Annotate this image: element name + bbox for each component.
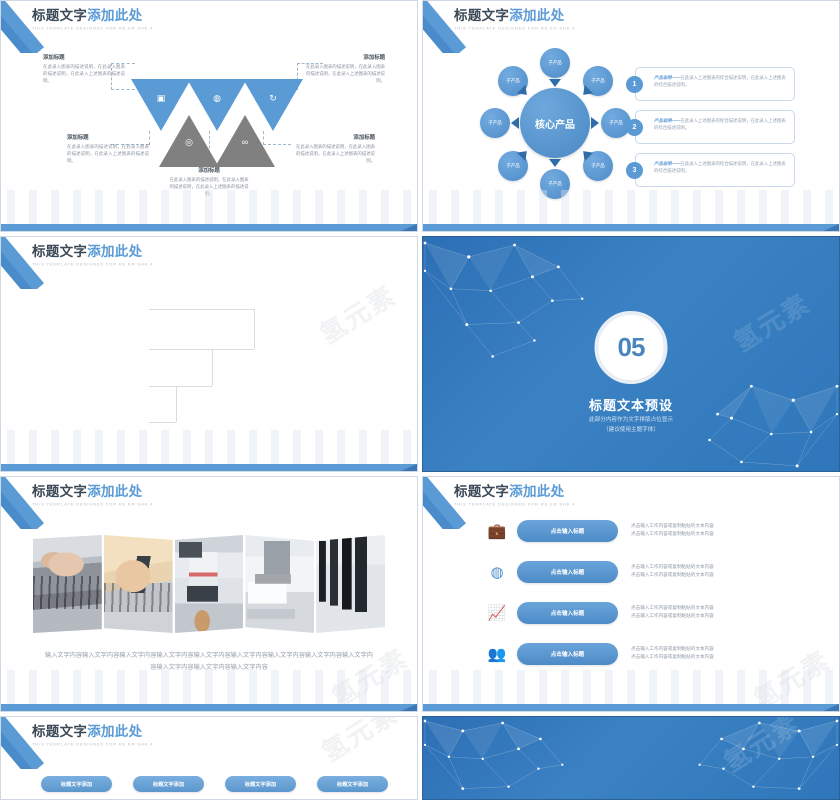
row-button[interactable]: 点击输入标题 — [517, 643, 618, 665]
slide-6-icon-rows[interactable]: 标题文字添加此处 THIS TEMPLATE DESIGNED FOR RE E… — [422, 476, 840, 712]
connector-line — [149, 309, 254, 310]
city-silhouette — [423, 190, 839, 224]
subtitle-line-1: 此部分内容作为文字排版占位显示 — [423, 415, 839, 425]
icon-row-1: 💼 点击输入标题 点击输入工作内容或复制粘贴的文本内容 点击输入工作内容或复制粘… — [485, 518, 765, 544]
item-lead: 产品说明—— — [654, 75, 680, 80]
arrow-e — [591, 117, 599, 129]
money-clock-icon: ◍ — [485, 560, 509, 584]
arrow-n — [549, 79, 561, 87]
block-desc: 在此录入图表的描述说明，在此录入图表的描述说明，在此录入上述图表的描述说明。 — [43, 64, 125, 84]
row-button[interactable]: 点击输入标题 — [517, 561, 618, 583]
photo-gallery — [33, 535, 385, 633]
title-dark: 标题文字 — [32, 244, 87, 259]
section-number-circle: 05 — [595, 311, 668, 384]
title-dark: 标题文字 — [32, 8, 87, 23]
row-button[interactable]: 点击输入标题 — [517, 602, 618, 624]
tab-button-4[interactable]: 标题文字添加 — [317, 776, 388, 792]
search-icon: ◎ — [183, 137, 195, 148]
item-lead: 产品说明—— — [654, 118, 680, 123]
list-item[interactable]: 3 产品说明——在此录入上述图表的综合描述说明，在此录入上述图表的综合描述说明。 — [635, 153, 795, 187]
bottom-bar — [1, 464, 417, 471]
slide-4-section-divider[interactable]: 05 标题文本预设 此部分内容作为文字排版占位显示 （建议使用主题字体） 氢元素 — [422, 236, 840, 472]
header-tagline: THIS TEMPLATE DESIGNED FOR RE ER SHE 4 — [454, 26, 575, 31]
city-silhouette — [1, 430, 417, 464]
watermark: 氢元素 — [314, 716, 405, 769]
briefcase-icon: 💼 — [485, 519, 509, 543]
photo-3-desk-laptop-monitor[interactable] — [175, 535, 244, 633]
city-silhouette — [1, 670, 417, 704]
block-desc: 在此录入图表的描述说明，在此录入图表的描述说明，在此录入上述图表的描述说明。 — [67, 144, 149, 164]
connector-line — [176, 386, 177, 422]
title-accent: 添加此处 — [87, 244, 142, 259]
header-tagline: THIS TEMPLATE DESIGNED FOR RE ER SHE 4 — [32, 262, 153, 267]
row-button[interactable]: 点击输入标题 — [517, 520, 618, 542]
row-desc: 点击输入工作内容或复制粘贴的文本内容 点击输入工作内容或复制粘贴的文本内容 — [631, 522, 756, 539]
header-tagline: THIS TEMPLATE DESIGNED FOR RE ER SHE 4 — [32, 26, 153, 31]
row-desc: 点击输入工作内容或复制粘贴的文本内容 点击输入工作内容或复制粘贴的文本内容 — [631, 604, 756, 621]
triangle-chevron-group: ▣ ◍ ↻ ◎ ∞ — [131, 79, 301, 167]
row-desc: 点击输入工作内容或复制粘贴的文本内容 点击输入工作内容或复制粘贴的文本内容 — [631, 645, 756, 662]
title-dark: 标题文字 — [454, 8, 509, 23]
section-subtitle: 此部分内容作为文字排版占位显示 （建议使用主题字体） — [423, 415, 839, 436]
block-title: 添加标题 — [293, 133, 375, 141]
item-number: 1 — [626, 76, 643, 93]
slide-header: 标题文字添加此处 THIS TEMPLATE DESIGNED FOR RE E… — [32, 9, 153, 31]
text-block-1: 添加标题 在此录入图表的描述说明，在此录入图表的描述说明，在此录入上述图表的描述… — [43, 53, 125, 84]
tab-button-1[interactable]: 标题文字添加 — [41, 776, 112, 792]
text-block-4: 添加标题 在此录入图表的描述说明，在此录入图表的描述说明，在此录入上述图表的描述… — [293, 133, 375, 164]
watermark: 氢元素 — [312, 276, 403, 352]
title-dark: 标题文字 — [32, 484, 87, 499]
title-accent: 添加此处 — [87, 8, 142, 23]
title-accent: 添加此处 — [87, 484, 142, 499]
slide-header: 标题文字添加此处 THIS TEMPLATE DESIGNED FOR RE E… — [32, 485, 153, 507]
slide-header: 标题文字添加此处 THIS TEMPLATE DESIGNED FOR RE E… — [454, 9, 575, 31]
connector-line — [149, 386, 212, 387]
text-block-5: 添加标题 在此录入图表的描述说明，在此录入图表的描述说明，在此录入上述图表的描述… — [303, 53, 385, 84]
list-item[interactable]: 2 产品说明——在此录入上述图表的综合描述说明，在此录入上述图表的综合描述说明。 — [635, 110, 795, 144]
hub-diagram: 核心产品 子产品 子产品 子产品 子产品 子产品 子产品 子产品 子产品 — [485, 53, 625, 193]
link-icon: ∞ — [239, 137, 251, 147]
growth-chart-icon: 📈 — [485, 601, 509, 625]
numbered-list: 1 产品说明——在此录入上述图表的综合描述说明，在此录入上述图表的综合描述说明。… — [635, 67, 795, 196]
arrow-w — [511, 117, 519, 129]
text-block-2: 添加标题 在此录入图表的描述说明，在此录入图表的描述说明，在此录入上述图表的描述… — [67, 133, 149, 164]
people-group-icon: 👥 — [485, 642, 509, 666]
tab-button-2[interactable]: 标题文字添加 — [133, 776, 204, 792]
slide-header: 标题文字添加此处 THIS TEMPLATE DESIGNED FOR RE E… — [32, 245, 153, 267]
header-tagline: THIS TEMPLATE DESIGNED FOR RE ER SHE 4 — [32, 502, 153, 507]
icon-row-3: 📈 点击输入标题 点击输入工作内容或复制粘贴的文本内容 点击输入工作内容或复制粘… — [485, 600, 765, 626]
block-title: 添加标题 — [168, 166, 250, 174]
section-title: 标题文本预设 — [423, 395, 839, 414]
header-tagline: THIS TEMPLATE DESIGNED FOR RE ER SHE 4 — [32, 742, 153, 747]
block-desc: 在此录入图表的描述说明，在此录入图表的描述说明，在此录入上述图表的描述说明。 — [303, 64, 385, 84]
city-silhouette — [1, 190, 417, 224]
item-lead: 产品说明—— — [654, 161, 680, 166]
city-silhouette — [423, 670, 839, 704]
core-product-circle[interactable]: 核心产品 — [520, 88, 590, 158]
title-dark: 标题文字 — [32, 724, 87, 739]
connector-line — [149, 349, 254, 350]
block-title: 添加标题 — [303, 53, 385, 61]
bottom-bar — [1, 224, 417, 231]
slide-1-triangles[interactable]: 标题文字添加此处 THIS TEMPLATE DESIGNED FOR RE E… — [0, 0, 418, 232]
photo-2-hand-holding-phone[interactable] — [104, 535, 173, 633]
slide-2-core-product[interactable]: 标题文字添加此处 THIS TEMPLATE DESIGNED FOR RE E… — [422, 0, 840, 232]
bottom-bar — [423, 704, 839, 711]
subtitle-line-2: （建议使用主题字体） — [423, 425, 839, 435]
slide-8-network-background[interactable]: 氢元素 — [422, 716, 840, 800]
connector-line — [212, 349, 213, 386]
header-tagline: THIS TEMPLATE DESIGNED FOR RE ER SHE 4 — [454, 502, 575, 507]
list-item[interactable]: 1 产品说明——在此录入上述图表的综合描述说明，在此录入上述图表的综合描述说明。 — [635, 67, 795, 101]
photo-4-laptop-documents[interactable] — [245, 535, 314, 633]
block-title: 添加标题 — [43, 53, 125, 61]
block-title: 添加标题 — [67, 133, 149, 141]
bottom-bar — [1, 704, 417, 711]
item-number: 2 — [626, 119, 643, 136]
satellite-n[interactable]: 子产品 — [540, 48, 570, 78]
slide-3-growth-chart[interactable]: 标题文字添加此处 THIS TEMPLATE DESIGNED FOR RE E… — [0, 236, 418, 472]
refresh-icon: ↻ — [267, 93, 279, 104]
slide-5-photo-strip[interactable]: 标题文字添加此处 THIS TEMPLATE DESIGNED FOR RE E… — [0, 476, 418, 712]
icon-row-4: 👥 点击输入标题 点击输入工作内容或复制粘贴的文本内容 点击输入工作内容或复制粘… — [485, 641, 765, 667]
arrow-s — [549, 159, 561, 167]
slide-header: 标题文字添加此处 THIS TEMPLATE DESIGNED FOR RE E… — [32, 725, 153, 747]
photo-5-dark-monitors-row[interactable] — [316, 535, 385, 633]
row-desc: 点击输入工作内容或复制粘贴的文本内容 点击输入工作内容或复制粘贴的文本内容 — [631, 563, 756, 580]
tab-button-3[interactable]: 标题文字添加 — [225, 776, 296, 792]
wallet-icon: ▣ — [155, 93, 167, 104]
item-number: 3 — [626, 162, 643, 179]
photo-1-hands-typing-laptop[interactable] — [33, 535, 102, 633]
icon-row-2: ◍ 点击输入标题 点击输入工作内容或复制粘贴的文本内容 点击输入工作内容或复制粘… — [485, 559, 765, 585]
location-pin-icon: ◍ — [211, 93, 223, 104]
slide-7-pill-buttons[interactable]: 标题文字添加此处 THIS TEMPLATE DESIGNED FOR RE E… — [0, 716, 418, 800]
connector-line — [254, 309, 255, 349]
block-desc: 在此录入图表的描述说明，在此录入图表的描述说明，在此录入上述图表的描述说明。 — [293, 144, 375, 164]
title-accent: 添加此处 — [509, 8, 564, 23]
title-accent: 添加此处 — [509, 484, 564, 499]
bottom-bar — [423, 224, 839, 231]
satellite-w[interactable]: 子产品 — [480, 108, 510, 138]
connector-line — [149, 422, 176, 423]
slide-header: 标题文字添加此处 THIS TEMPLATE DESIGNED FOR RE E… — [454, 485, 575, 507]
title-accent: 添加此处 — [87, 724, 142, 739]
slide-thumbnail-grid: 标题文字添加此处 THIS TEMPLATE DESIGNED FOR RE E… — [0, 0, 840, 788]
title-dark: 标题文字 — [454, 484, 509, 499]
